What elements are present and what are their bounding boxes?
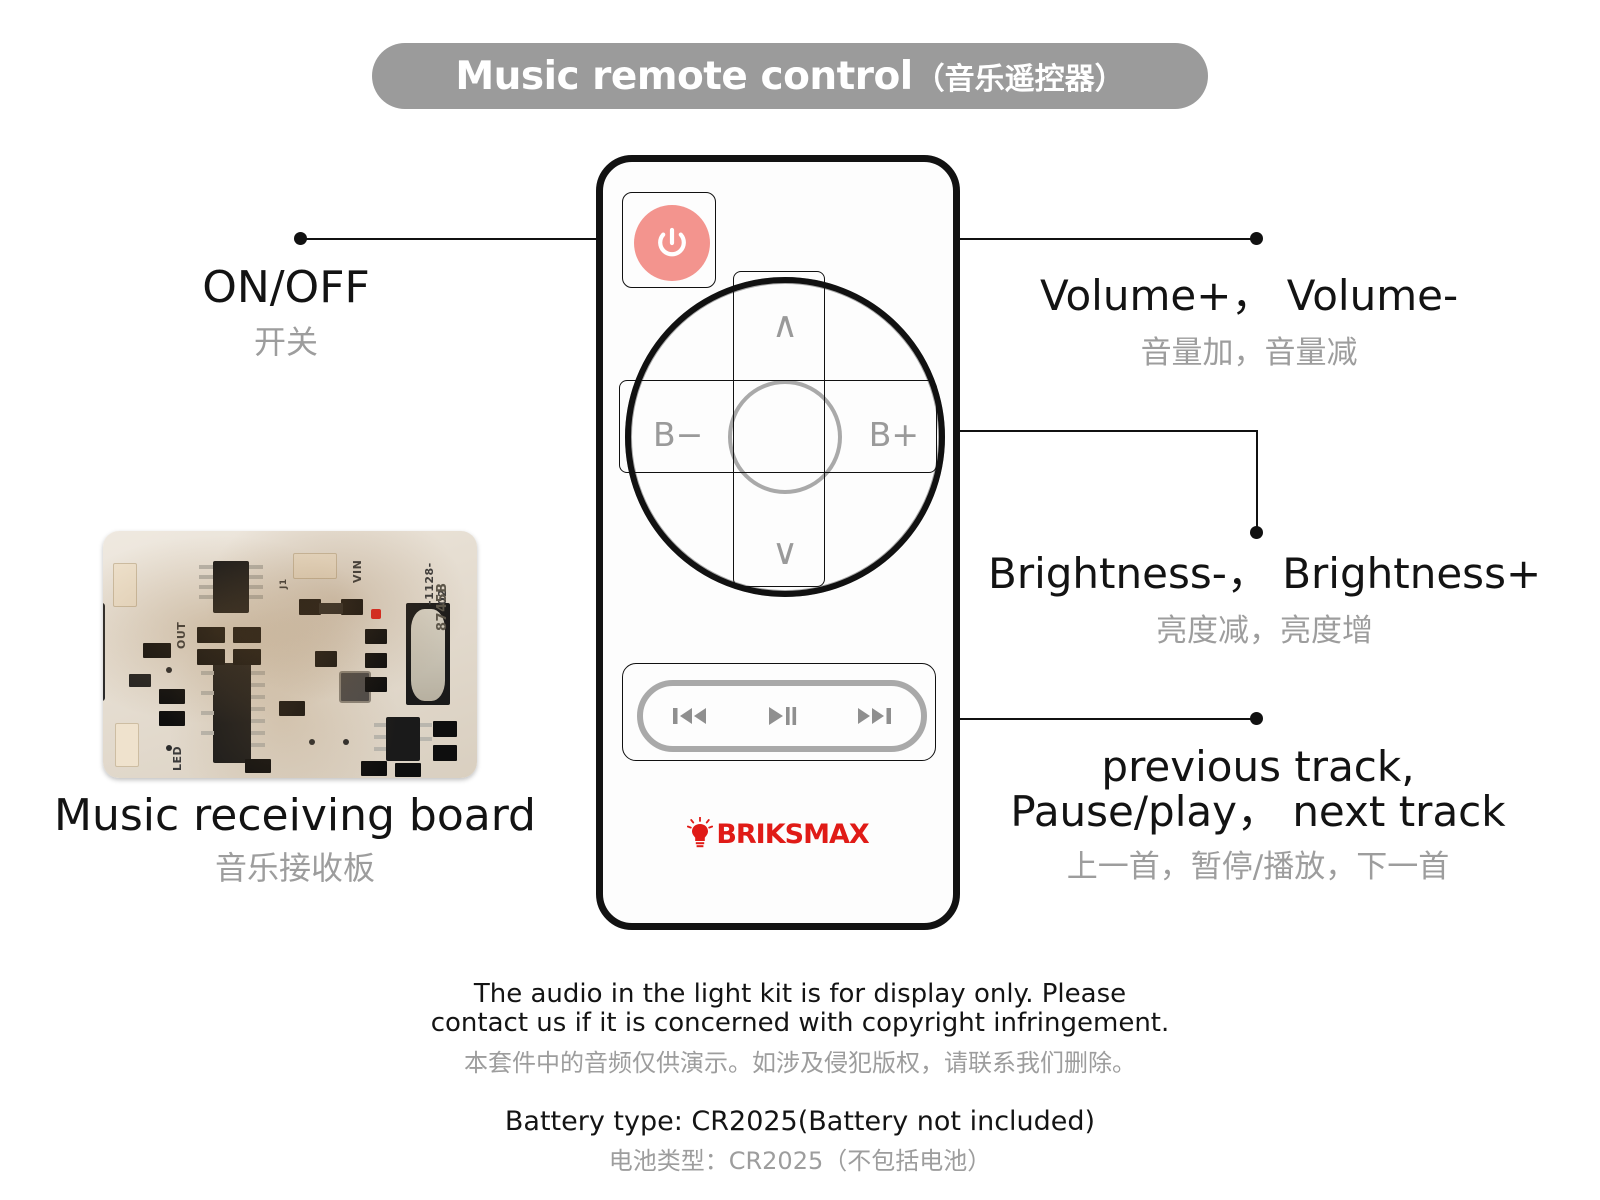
ic-u3 (386, 717, 420, 761)
copyright-note-en-line1: The audio in the light kit is for displa… (0, 980, 1600, 1009)
via-4 (343, 739, 349, 745)
smd-d1 (319, 603, 343, 614)
highlight-box-power (622, 192, 716, 288)
ic-u2-pins-r3 (251, 695, 265, 699)
pad-d1b (341, 599, 363, 615)
silkscreen-out: OUT (175, 622, 188, 649)
status-led-red (371, 609, 381, 619)
connector-j6 (113, 563, 137, 607)
callout-tracks-en-line2: Pause/play， next track (998, 790, 1518, 835)
highlight-box-media (622, 663, 936, 761)
callout-onoff: ON/OFF 开关 (198, 262, 374, 363)
leader-dot-tracks (1250, 712, 1263, 725)
callout-onoff-en: ON/OFF (198, 262, 374, 313)
pad-c11a (365, 629, 387, 644)
callout-volume-en: Volume+， Volume- (1040, 262, 1458, 323)
board-caption: Music receiving board 音乐接收板 (25, 790, 565, 889)
ic-u1 (213, 561, 249, 613)
callout-tracks-zh: 上一首，暂停/播放，下一首 (998, 841, 1518, 886)
ic-u2-pins-l1 (201, 671, 214, 675)
ic-u2-pins-r6 (251, 731, 265, 735)
callout-tracks-en-line1: previous track, (998, 745, 1518, 790)
leader-line-brightness-horizontal (936, 430, 1258, 432)
board-side-connector (103, 603, 105, 701)
callout-brightness-en: Brightness-， Brightness+ (988, 540, 1541, 601)
connector-j3 (115, 723, 139, 767)
copyright-note-zh: 本套件中的音频仅供演示。如涉及侵犯版权，请联系我们删除。 (0, 1043, 1600, 1078)
ic-u1-pins-left3 (199, 585, 213, 589)
silkscreen-j1: J1 (279, 578, 289, 589)
board-caption-zh: 音乐接收板 (25, 843, 565, 889)
leader-line-tracks (936, 718, 1258, 720)
ic-u2-pins-r4 (251, 707, 265, 711)
brand-logo: BRIKSMAX (603, 817, 953, 851)
page-title-banner: Music remote control（音乐遥控器） (372, 43, 1208, 109)
pad-c11b (365, 653, 387, 668)
ic-u3-pins5 (420, 737, 432, 741)
ic-u1-pins-right (249, 565, 263, 569)
battery-note-en: Battery type: CR2025(Battery not include… (0, 1106, 1600, 1137)
highlight-box-brightness (619, 380, 937, 473)
callout-brightness-zh: 亮度减，亮度增 (988, 605, 1541, 650)
callout-onoff-zh: 开关 (198, 317, 374, 363)
pad-r6 (143, 643, 171, 658)
pad-c4b (233, 627, 261, 643)
pad-c12b (433, 745, 457, 761)
footer-notes: The audio in the light kit is for displa… (0, 980, 1600, 1176)
callout-tracks: previous track, Pause/play， next track 上… (998, 745, 1518, 886)
ic-u3-pins2 (374, 735, 386, 739)
ic-u1-pins-left4 (199, 595, 213, 599)
pad-r4a (197, 649, 225, 665)
smd-q1 (129, 674, 151, 687)
pad-l1a (365, 677, 387, 692)
page-title-en: Music remote control (455, 54, 912, 99)
pad-r3 (279, 701, 305, 716)
pad-c1 (159, 711, 185, 726)
pad-d1a (299, 599, 321, 615)
pad-r2 (245, 759, 271, 773)
ic-u2-pins-l4 (201, 731, 214, 735)
instruction-sheet: Music remote control（音乐遥控器） (0, 0, 1600, 1200)
ic-u1-pins-right2 (249, 575, 263, 579)
ic-u3-pins4 (420, 723, 432, 727)
ic-u2-pins-l3 (201, 711, 214, 715)
ic-u2-pins-r2 (251, 683, 265, 687)
ic-u2 (213, 663, 251, 763)
ic-u2-pins-r7 (251, 743, 265, 747)
ic-u1-pins-right4 (249, 595, 263, 599)
pad-c12 (433, 721, 457, 737)
ic-u1-pins-left (199, 565, 213, 569)
ic-u2-pins-l2 (201, 691, 214, 695)
pad-r1 (315, 651, 337, 667)
pad-c14 (395, 763, 421, 777)
crystal-marking: 8745B (435, 582, 450, 631)
callout-volume: Volume+， Volume- 音量加，音量减 (1040, 262, 1458, 372)
battery-note-zh: 电池类型：CR2025（不包括电池） (0, 1141, 1600, 1176)
page-title-zh: （音乐遥控器） (915, 54, 1125, 98)
leader-dot-volume (1250, 232, 1263, 245)
via-3 (309, 739, 315, 745)
leader-dot-brightness (1250, 526, 1263, 539)
pad-c13 (361, 761, 387, 776)
brand-name: BRIKSMAX (716, 819, 868, 850)
leader-line-brightness-vertical (1256, 430, 1258, 530)
silkscreen-led: LED (171, 746, 184, 771)
callout-volume-zh: 音量加，音量减 (1040, 327, 1458, 372)
ic-u2-pins-r5 (251, 719, 265, 723)
ic-u3-pins1 (374, 723, 386, 727)
ic-u2-pins-r1 (251, 671, 265, 675)
pad-c4a (197, 627, 225, 643)
callout-brightness: Brightness-， Brightness+ 亮度减，亮度增 (988, 540, 1541, 650)
board-caption-en: Music receiving board (25, 790, 565, 841)
ic-u1-pins-left2 (199, 575, 213, 579)
ic-u1-pins-right3 (249, 585, 263, 589)
ic-u3-pins3 (374, 747, 386, 751)
pad-r4b (233, 649, 261, 665)
connector-j1 (293, 553, 337, 579)
lightbulb-icon (687, 817, 713, 851)
pad-c2 (159, 689, 185, 704)
silkscreen-vin: VIN (351, 560, 364, 583)
via-1 (166, 667, 172, 673)
copyright-note-en-line2: contact us if it is concerned with copyr… (0, 1009, 1600, 1038)
leader-line-onoff (300, 238, 624, 240)
music-receiving-board-photo: OUT LED VIN -1128-02 J1 8745B (103, 531, 477, 778)
